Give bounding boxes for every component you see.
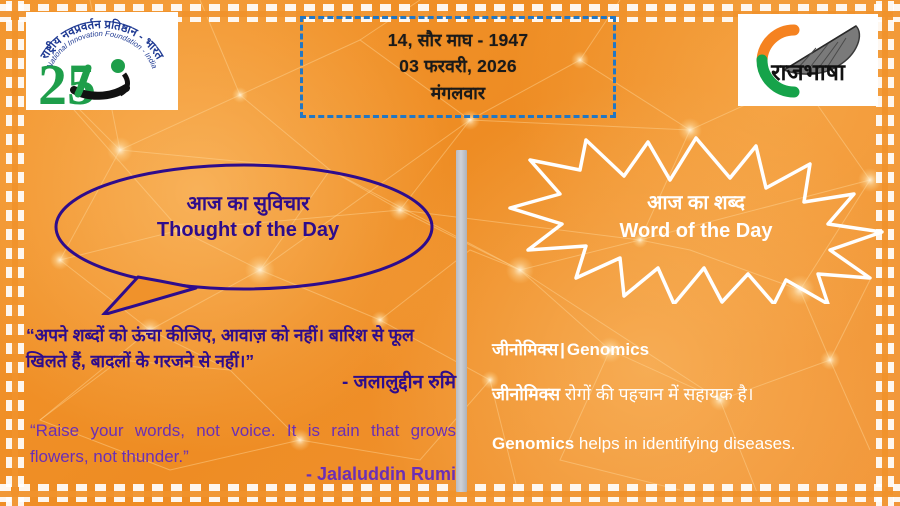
rajbhasha-text: राजभाषा <box>770 59 846 85</box>
daily-thought-poster: राष्ट्रीय नवप्रवर्तन प्रतिष्ठान - भारत N… <box>0 0 900 506</box>
date-line-weekday: मंगलवार <box>431 81 486 106</box>
quote-english-author: - Jalaluddin Rumi <box>26 464 456 485</box>
speech-bubble-tail <box>103 277 196 315</box>
word-starburst: आज का शब्द Word of the Day <box>498 136 894 304</box>
nif-logo: राष्ट्रीय नवप्रवर्तन प्रतिष्ठान - भारत N… <box>26 12 178 110</box>
border-bottom-slot <box>0 491 900 497</box>
word-heading-hindi: आज का शब्द <box>498 190 894 217</box>
quote-hindi-author: - जलालुद्दीन रुमि <box>26 368 456 394</box>
thought-heading-hindi: आज का सुविचार <box>48 191 448 217</box>
word-sentence-english-rest: helps in identifying diseases. <box>574 434 795 453</box>
word-sentence-hindi-term: जीनोमिक्स <box>492 384 560 404</box>
thought-heading: आज का सुविचार Thought of the Day <box>48 191 448 244</box>
word-heading-english: Word of the Day <box>498 217 894 245</box>
word-term-line: जीनोमिक्स|Genomics <box>492 338 892 362</box>
vertical-divider <box>456 150 467 492</box>
quote-english: “Raise your words, not voice. It is rain… <box>30 418 456 471</box>
word-term-hindi: जीनोमिक्स <box>492 340 558 359</box>
thought-speech-bubble: आज का सुविचार Thought of the Day <box>48 155 448 315</box>
nif-numeral-25: 25 <box>38 52 96 110</box>
date-line-saka: 14, सौर माघ - 1947 <box>388 28 529 53</box>
border-left-slot <box>12 0 18 506</box>
quote-hindi: “अपने शब्दों को ऊंचा कीजिए, आवाज़ को नही… <box>26 322 456 375</box>
word-sentence-english-term: Genomics <box>492 434 574 453</box>
word-term-separator: | <box>558 340 567 359</box>
date-box: 14, सौर माघ - 1947 03 फरवरी, 2026 मंगलवा… <box>300 16 616 118</box>
date-line-gregorian: 03 फरवरी, 2026 <box>399 54 517 79</box>
thought-heading-english: Thought of the Day <box>48 217 448 244</box>
word-sentence-hindi-rest: रोगों की पहचान में सहायक है। <box>560 384 753 404</box>
rajbhasha-logo: राजभाषा <box>738 14 878 106</box>
word-heading: आज का शब्द Word of the Day <box>498 190 894 245</box>
word-sentence-hindi: जीनोमिक्स रोगों की पहचान में सहायक है। <box>492 382 894 407</box>
word-term-english: Genomics <box>567 340 649 359</box>
word-sentence-english: Genomics helps in identifying diseases. <box>492 432 894 456</box>
